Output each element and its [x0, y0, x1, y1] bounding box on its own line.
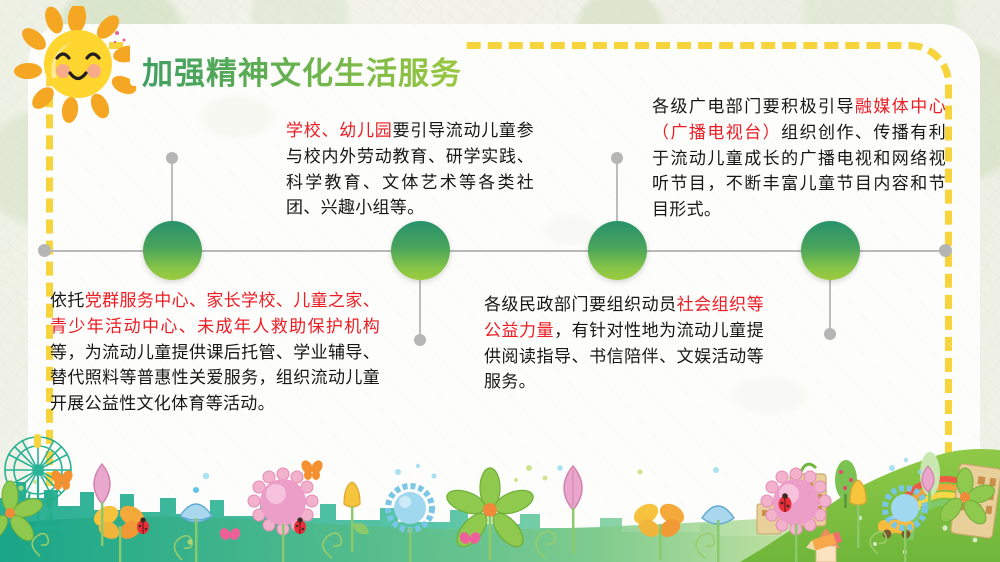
- connector-line-3: [616, 160, 618, 226]
- timeline-end-dot-left: [38, 244, 51, 257]
- connector-line-1: [171, 160, 173, 226]
- timeline-end-dot-right: [939, 244, 952, 257]
- text-block-top-left: 学校、幼儿园要引导流动儿童参与校内外劳动教育、研学实践、科学教育、文体艺术等各类…: [286, 118, 534, 221]
- slide-canvas: 加强精神文化生活服务 学校、幼儿园要引导流动儿童参与校内外劳动教育、研学实践、科…: [0, 0, 1000, 562]
- text-lead: 各级民政部门要组织动员: [484, 295, 677, 314]
- ferris-wheel-flag: [34, 434, 41, 448]
- connector-line-4: [829, 276, 831, 332]
- text-highlight: 学校、幼儿园: [286, 121, 392, 140]
- text-highlight: 党群服务中心、家长学校、儿童之家、青少年活动中心、未成年人救助保护机构: [50, 291, 380, 336]
- timeline-node-1[interactable]: [143, 221, 202, 280]
- bottom-decoration-scene: [0, 432, 1000, 562]
- text-block-bottom-left: 依托党群服务中心、家长学校、儿童之家、青少年活动中心、未成年人救助保护机构等，为…: [50, 288, 380, 417]
- timeline-node-3[interactable]: [588, 221, 647, 280]
- page-title: 加强精神文化生活服务: [142, 48, 462, 93]
- text-block-top-right: 各级广电部门要积极引导融媒体中心（广播电视台）组织创作、传播有利于流动儿童成长的…: [652, 94, 946, 223]
- text-body: 等，为流动儿童提供课后托管、学业辅导、替代照料等普惠性关爱服务，组织流动儿童开展…: [50, 343, 380, 414]
- text-block-bottom-middle: 各级民政部门要组织动员社会组织等公益力量，有针对性地为流动儿童提供阅读指导、书信…: [484, 292, 764, 395]
- connector-dot-2: [414, 334, 426, 346]
- timeline-node-4[interactable]: [801, 221, 860, 280]
- timeline-node-2[interactable]: [391, 221, 450, 280]
- text-lead: 依托: [50, 291, 85, 310]
- connector-dot-3: [611, 152, 623, 164]
- connector-dot-4: [824, 328, 836, 340]
- connector-dot-1: [166, 152, 178, 164]
- smiling-sun-icon: [12, 6, 142, 126]
- text-lead: 各级广电部门要积极引导: [652, 97, 855, 116]
- connector-line-2: [419, 276, 421, 338]
